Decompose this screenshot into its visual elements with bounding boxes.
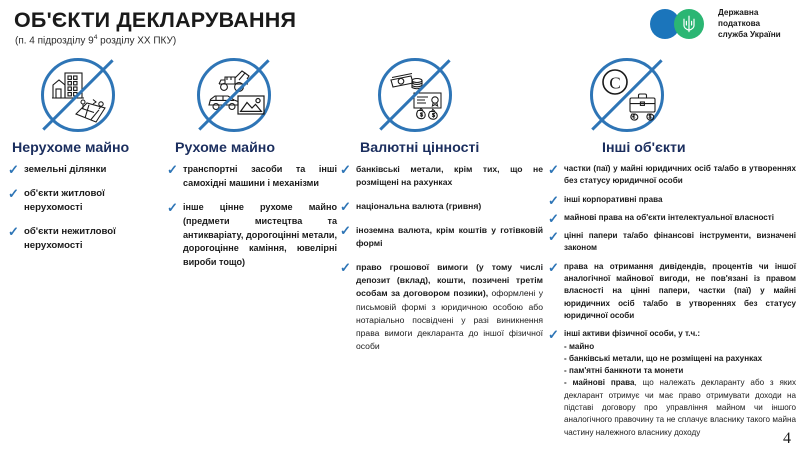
column-title-currency-values: Валютні цінності xyxy=(360,140,543,156)
list-item-text: об'єкти житлової нерухомості xyxy=(24,187,164,216)
check-icon: ✓ xyxy=(548,261,559,272)
list-item-text: права на отримання дивідендів, процентів… xyxy=(564,261,796,322)
slide-canvas: ОБ'ЄКТИ ДЕКЛАРУВАННЯ (п. 4 підрозділу 94… xyxy=(0,0,800,449)
list-item: ✓частки (паї) у майні юридичних осіб та/… xyxy=(548,163,796,188)
list-item: ✓цінні папери та/або фінансові інструмен… xyxy=(548,230,796,255)
list-item-text: інші активи фізичної особи, у т.ч.:- май… xyxy=(564,328,796,439)
check-icon: ✓ xyxy=(548,163,559,174)
list-item: ✓іноземна валюта, крім коштів у готівков… xyxy=(340,224,543,250)
check-icon: ✓ xyxy=(167,201,178,212)
list-item-text: національна валюта (гривня) xyxy=(356,200,543,213)
icon-badge-wrap xyxy=(8,58,164,134)
sublist-line: - майно xyxy=(564,341,796,353)
list-item-text: транспортні засоби та інші самохідні маш… xyxy=(183,163,337,190)
no-real-estate-icon xyxy=(41,58,115,132)
list-item: ✓об'єкти нежитлової нерухомості xyxy=(8,225,164,254)
list-item: ✓права на отримання дивідендів, проценті… xyxy=(548,261,796,322)
bullet-list-real-estate: ✓земельні ділянки ✓об'єкти житлової неру… xyxy=(8,163,164,254)
list-item-text: іноземна валюта, крім коштів у готівкові… xyxy=(356,224,543,250)
icon-badge-wrap: C € $ xyxy=(548,58,796,134)
no-currency-values-icon: $ $ xyxy=(378,58,452,132)
agency-logo: Державна податкова служба України xyxy=(650,8,781,40)
list-item-text: майнові права на об'єкти інтелектуальної… xyxy=(564,212,796,224)
list-item: ✓банківські метали, крім тих, що не розм… xyxy=(340,163,543,189)
check-icon: ✓ xyxy=(340,200,351,211)
column-title-movable-property: Рухоме майно xyxy=(175,140,337,156)
list-item-text: частки (паї) у майні юридичних осіб та/а… xyxy=(564,163,796,188)
page-subtitle: (п. 4 підрозділу 94 розділу ХХ ПКУ) xyxy=(15,34,176,46)
list-item: ✓об'єкти житлової нерухомості xyxy=(8,187,164,216)
list-item: ✓інше цінне рухоме майно (предмети мисте… xyxy=(167,201,337,269)
bullet-list-currency-values: ✓банківські метали, крім тих, що не розм… xyxy=(340,163,543,353)
check-icon: ✓ xyxy=(548,230,559,241)
category-column-currency-values: $ $ Валютні цінності ✓банківські метали,… xyxy=(340,58,543,364)
check-icon: ✓ xyxy=(340,261,351,272)
bullet-list-other-objects: ✓частки (паї) у майні юридичних осіб та/… xyxy=(548,163,796,439)
icon-badge-wrap xyxy=(167,58,337,134)
sublist-line-bold: - майнові права xyxy=(564,378,635,387)
land-plot-icon xyxy=(74,97,108,127)
list-item: ✓транспортні засоби та інші самохідні ма… xyxy=(167,163,337,190)
check-icon: ✓ xyxy=(548,194,559,205)
list-item-text: інше цінне рухоме майно (предмети мистец… xyxy=(183,201,337,269)
logo-text: Державна податкова служба України xyxy=(718,8,781,40)
list-item: ✓право грошової вимоги (у тому числі деп… xyxy=(340,261,543,352)
list-item-text: інші корпоративні права xyxy=(564,194,796,206)
sublist-line-mixed: - майнові права, що належать декларанту … xyxy=(564,377,796,438)
subtitle-after: розділу ХХ ПКУ) xyxy=(97,35,176,46)
category-column-movable-property: Рухоме майно ✓транспортні засоби та інші… xyxy=(167,58,337,280)
no-other-objects-icon: C € $ xyxy=(590,58,664,132)
column-title-other-objects: Інші об'єкти xyxy=(602,140,796,156)
list-item: ✓земельні ділянки xyxy=(8,163,164,178)
check-icon: ✓ xyxy=(8,163,19,174)
check-icon: ✓ xyxy=(8,187,19,198)
list-item-text: право грошової вимоги (у тому числі депо… xyxy=(356,261,543,352)
sublist-lead: інші активи фізичної особи, у т.ч.: xyxy=(564,328,796,340)
slide-header: ОБ'ЄКТИ ДЕКЛАРУВАННЯ (п. 4 підрозділу 94… xyxy=(0,0,800,56)
list-item-text: об'єкти нежитлової нерухомості xyxy=(24,225,164,254)
check-icon: ✓ xyxy=(548,212,559,223)
logo-green-circle xyxy=(674,9,704,39)
page-number: 4 xyxy=(783,430,791,448)
icon-badge-wrap: $ $ xyxy=(340,58,543,134)
svg-text:$: $ xyxy=(432,113,435,119)
svg-text:C: C xyxy=(609,74,620,93)
svg-text:$: $ xyxy=(649,115,652,121)
sublist-line: - пам'ятні банкноти та монети xyxy=(564,365,796,377)
sublist-line: - банківські метали, що не розміщені на … xyxy=(564,353,796,365)
logo-circles xyxy=(650,9,712,39)
svg-text:$: $ xyxy=(420,113,423,119)
trident-icon xyxy=(682,15,696,33)
subtitle-before: (п. 4 підрозділу 9 xyxy=(15,35,94,46)
svg-text:€: € xyxy=(632,115,635,121)
check-icon: ✓ xyxy=(340,224,351,235)
list-item-text: банківські метали, крім тих, що не розмі… xyxy=(356,163,543,189)
briefcase-money-icon: € $ xyxy=(626,92,660,122)
copyright-icon: C xyxy=(601,68,629,96)
artwork-frame-icon xyxy=(236,93,266,117)
category-column-real-estate: Нерухоме майно ✓земельні ділянки ✓об'єкт… xyxy=(8,58,164,263)
list-item: ✓інші корпоративні права xyxy=(548,194,796,206)
check-icon: ✓ xyxy=(8,225,19,236)
list-item-text: земельні ділянки xyxy=(24,163,164,178)
column-title-real-estate: Нерухоме майно xyxy=(12,140,164,156)
check-icon: ✓ xyxy=(340,163,351,174)
page-title: ОБ'ЄКТИ ДЕКЛАРУВАННЯ xyxy=(14,8,296,33)
check-icon: ✓ xyxy=(167,163,178,174)
list-item-text: цінні папери та/або фінансові інструмент… xyxy=(564,230,796,255)
list-item: ✓інші активи фізичної особи, у т.ч.:- ма… xyxy=(548,328,796,439)
check-icon: ✓ xyxy=(548,328,559,339)
no-movable-property-icon xyxy=(197,58,271,132)
list-item: ✓національна валюта (гривня) xyxy=(340,200,543,213)
bullet-list-movable-property: ✓транспортні засоби та інші самохідні ма… xyxy=(167,163,337,269)
category-column-other-objects: C € $ Інші об'єкти xyxy=(548,58,796,445)
list-item: ✓майнові права на об'єкти інтелектуально… xyxy=(548,212,796,224)
